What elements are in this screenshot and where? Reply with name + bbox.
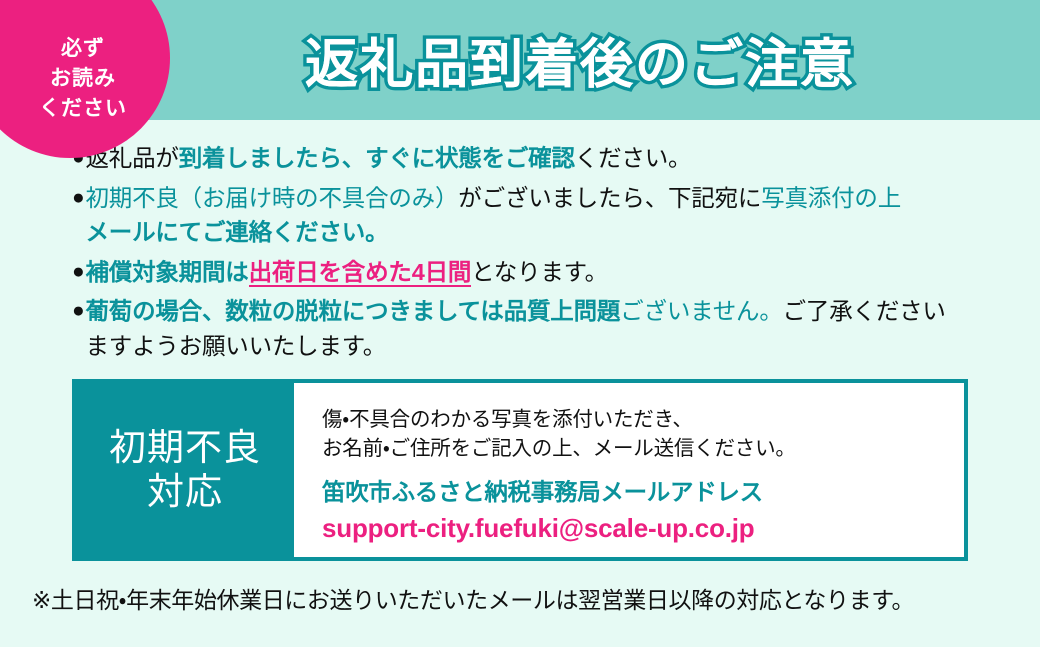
notice-text: 返礼品が到着しましたら、すぐに状態をご確認ください。 (85, 141, 1012, 176)
notice-text-segment: 出荷日を含めた4日間 (249, 259, 472, 287)
notice-text-segment: 葡萄の場合、数粒の脱粒につきましては品質上問題 (85, 298, 620, 324)
notice-item: ●返礼品が到着しましたら、すぐに状態をご確認ください。 (72, 141, 1012, 176)
page-title-text: 返礼品到着後のご注意 (305, 22, 855, 98)
notice-text-segment: 写真添付の上 (761, 185, 901, 211)
notice-text-segment: ください。 (575, 145, 692, 171)
notice-text: 葡萄の場合、数粒の脱粒につきましては品質上問題ございません。ご了承くださいますよ… (85, 294, 1012, 363)
footer-note: ※土日祝・年末年始休業日にお送りいただいたメールは翌営業日以降の対応となります。 (32, 581, 1022, 615)
notice-item: ●葡萄の場合、数粒の脱粒につきましては品質上問題ございません。ご了承くださいます… (72, 294, 1012, 363)
must-read-badge: 必ず お読み ください (0, 0, 170, 158)
notice-text-segment: 到着しましたら、すぐに状態をご確認 (179, 145, 575, 171)
notice-text-segment: 補償対象期間は (85, 259, 248, 285)
contact-box: 初期不良 対応 傷・不具合のわかる写真を添付いただき、 お名前・ご住所をご記入の… (72, 379, 968, 561)
notice-text-segment: となります。 (471, 259, 608, 285)
contact-label: 初期不良 対応 (76, 383, 294, 557)
notice-text-segment: 初期不良（お届け時の不具合のみ） (85, 185, 458, 211)
notice-text-segment: ますようお願いいたします。 (85, 333, 386, 359)
instruction-line-1: 傷・不具合のわかる写真を添付いただき、 (322, 405, 964, 434)
department-name: 笛吹市ふるさと納税事務局メールアドレス (322, 473, 964, 507)
contact-label-line-2: 対応 (147, 470, 223, 514)
contact-email[interactable]: support-city.fuefuki@scale-up.co.jp (322, 513, 964, 544)
notice-item: ●初期不良（お届け時の不具合のみ）がございましたら、下記宛に写真添付の上メールに… (72, 181, 1012, 250)
notice-text: 初期不良（お届け時の不具合のみ）がございましたら、下記宛に写真添付の上メールにて… (85, 181, 1012, 250)
notice-list: ●返礼品が到着しましたら、すぐに状態をご確認ください。●初期不良（お届け時の不具… (72, 141, 1012, 368)
contact-detail: 傷・不具合のわかる写真を添付いただき、 お名前・ご住所をご記入の上、メール送信く… (294, 383, 964, 557)
notice-page: 必ず お読み ください 返礼品到着後のご注意 返礼品到着後のご注意 ●返礼品が到… (0, 0, 1040, 647)
notice-item: ●補償対象期間は出荷日を含めた4日間となります。 (72, 255, 1012, 290)
notice-text-segment: メールにてご連絡ください。 (85, 219, 388, 245)
notice-text-segment: ご了承ください (783, 298, 946, 324)
bullet-marker-icon: ● (72, 255, 84, 289)
contact-label-line-1: 初期不良 (109, 426, 261, 470)
bullet-marker-icon: ● (72, 181, 84, 215)
notice-text-segment: がございましたら、下記宛に (458, 185, 761, 211)
instruction-line-2: お名前・ご住所をご記入の上、メール送信ください。 (322, 434, 964, 463)
badge-line-2: お読み (50, 64, 116, 94)
notice-text-segment: ございません。 (620, 298, 782, 324)
notice-text: 補償対象期間は出荷日を含めた4日間となります。 (85, 255, 1012, 290)
bullet-marker-icon: ● (72, 294, 84, 328)
badge-line-3: ください (39, 94, 127, 124)
badge-line-1: 必ず (61, 34, 105, 64)
